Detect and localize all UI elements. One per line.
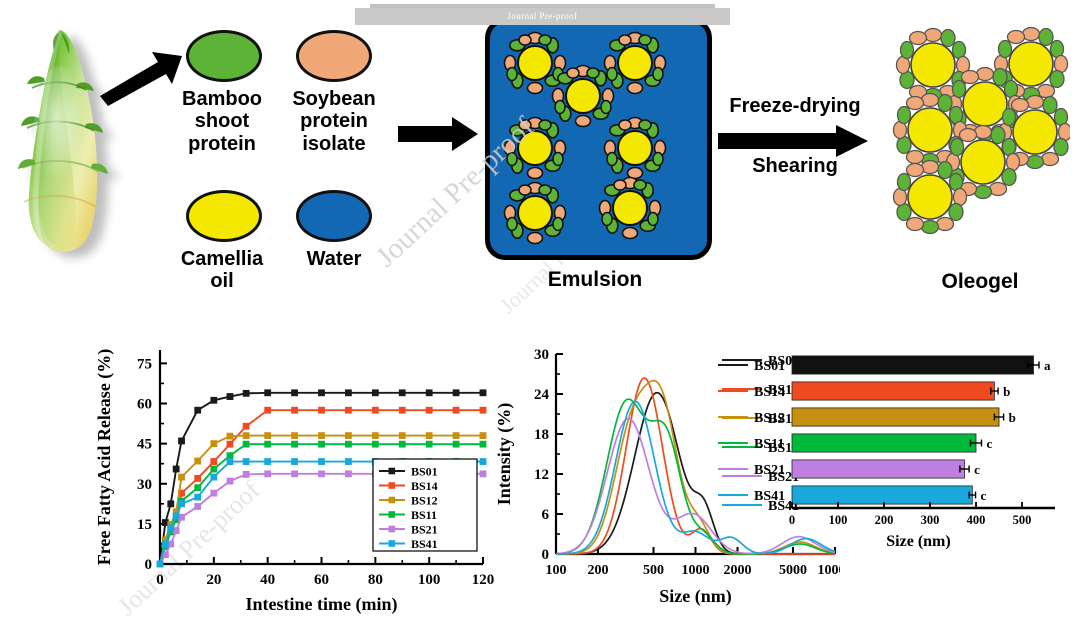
data-point — [227, 458, 233, 464]
arrow-ingredients-to-emulsion — [398, 116, 478, 152]
data-point — [372, 390, 378, 396]
x-tick-label: 20 — [206, 572, 221, 588]
x-tick-label: 10000 — [818, 563, 841, 578]
significance-letter: c — [981, 488, 987, 503]
data-point — [480, 458, 486, 464]
legend-marker — [389, 511, 396, 518]
data-point — [173, 513, 179, 519]
data-point — [195, 458, 201, 464]
x-tick-label: 2000 — [723, 563, 751, 578]
graphical-abstract: Journal Pre-proof Journal Pre-proof Jour… — [0, 0, 1080, 626]
x-tick-label: 300 — [921, 513, 940, 527]
data-point — [480, 471, 486, 477]
data-point — [178, 501, 184, 507]
data-point — [345, 407, 351, 413]
data-point — [265, 433, 271, 439]
data-point — [399, 390, 405, 396]
legend-label: BS12 — [754, 411, 785, 426]
data-point — [291, 471, 297, 477]
data-point — [243, 433, 249, 439]
x-tick-label: 500 — [1013, 513, 1032, 527]
x-axis-label: Intestine time (min) — [246, 594, 398, 615]
data-point — [291, 407, 297, 413]
data-point — [372, 433, 378, 439]
data-point — [426, 390, 432, 396]
data-point — [211, 441, 217, 447]
x-axis-label: Size (nm) — [659, 586, 731, 607]
data-point — [345, 433, 351, 439]
legend-label: BS21 — [754, 463, 785, 478]
data-point — [211, 397, 217, 403]
data-point — [480, 407, 486, 413]
legend-marker — [389, 482, 396, 489]
data-point — [265, 471, 271, 477]
significance-letter: c — [987, 436, 993, 451]
oleogel-label: Oleogel — [895, 270, 1065, 294]
camellia-label-line2: oil — [166, 270, 278, 292]
data-point — [157, 561, 163, 567]
data-point — [211, 490, 217, 496]
data-point — [480, 433, 486, 439]
legend-label: BS11 — [411, 508, 437, 522]
data-point — [318, 471, 324, 477]
data-point — [265, 458, 271, 464]
data-point — [195, 475, 201, 481]
x-tick-label: 80 — [368, 572, 383, 588]
legend-label: BS14 — [754, 385, 785, 400]
data-point — [345, 471, 351, 477]
data-point — [480, 390, 486, 396]
significance-letter: a — [1044, 358, 1051, 373]
y-tick-label: 60 — [137, 397, 152, 413]
x-tick-label: 40 — [260, 572, 275, 588]
legend-label: BS41 — [754, 489, 785, 504]
x-tick-label: 0 — [789, 513, 795, 527]
data-point — [243, 423, 249, 429]
data-point — [453, 433, 459, 439]
data-point — [227, 441, 233, 447]
y-tick-label: 0 — [542, 547, 550, 563]
legend-marker — [389, 468, 396, 475]
data-point — [291, 458, 297, 464]
data-point — [399, 433, 405, 439]
y-tick-label: 30 — [534, 347, 549, 363]
data-point — [211, 466, 217, 472]
arrow-emulsion-to-oleogel — [718, 125, 868, 157]
y-tick-label: 6 — [542, 507, 550, 523]
x-tick-label: 5000 — [779, 563, 807, 578]
data-point — [243, 441, 249, 447]
freeze-drying-label: Freeze-drying — [705, 95, 885, 118]
data-point — [162, 541, 168, 547]
bar — [792, 460, 965, 478]
legend-marker — [389, 497, 396, 504]
bar — [792, 356, 1034, 374]
data-point — [243, 390, 249, 396]
data-point — [453, 390, 459, 396]
oleogel-cluster — [885, 22, 1070, 252]
data-point — [265, 407, 271, 413]
x-tick-label: 500 — [643, 563, 664, 578]
y-tick-label: 12 — [534, 467, 549, 483]
data-point — [453, 441, 459, 447]
legend-marker — [389, 540, 396, 547]
data-point — [168, 525, 174, 531]
legend-marker — [389, 526, 396, 533]
data-point — [480, 441, 486, 447]
bar — [792, 408, 999, 426]
bamboo-shoot-protein-ellipse — [186, 30, 262, 82]
bar-BS11: cBS11 — [718, 434, 993, 452]
data-point — [227, 433, 233, 439]
mean-particle-size-inset-chart: aBS01bBS14bBS12cBS11cBS21cBS410100200300… — [700, 340, 1080, 555]
legend-label: BS21 — [411, 523, 438, 537]
data-point — [265, 441, 271, 447]
data-point — [318, 441, 324, 447]
soybean-protein-isolate-ellipse — [296, 30, 372, 82]
data-point — [372, 407, 378, 413]
data-point — [243, 471, 249, 477]
x-tick-label: 400 — [967, 513, 986, 527]
free-fatty-acid-release-chart: 01530456075020406080100120Intestine time… — [88, 322, 498, 622]
x-tick-label: 100 — [418, 572, 441, 588]
data-point — [399, 441, 405, 447]
data-point — [426, 407, 432, 413]
data-point — [453, 407, 459, 413]
y-tick-label: 15 — [137, 517, 152, 533]
camellia-oil-ellipse — [186, 190, 262, 242]
data-point — [178, 438, 184, 444]
camellia-oil-label: Camellia oil — [166, 248, 278, 293]
bar-BS12: bBS12 — [718, 408, 1016, 426]
data-point — [211, 458, 217, 464]
data-point — [291, 390, 297, 396]
data-point — [426, 433, 432, 439]
y-tick-label: 45 — [137, 437, 152, 453]
x-axis-label: Size (nm) — [886, 533, 950, 550]
legend-label: BS41 — [411, 537, 438, 551]
data-point — [345, 441, 351, 447]
data-point — [372, 441, 378, 447]
bamboo-label-line2: shoot — [166, 110, 278, 132]
data-point — [168, 501, 174, 507]
y-tick-label: 18 — [534, 427, 549, 443]
data-point — [345, 458, 351, 464]
x-tick-label: 1000 — [682, 563, 710, 578]
data-point — [345, 390, 351, 396]
data-point — [291, 441, 297, 447]
data-point — [178, 474, 184, 480]
significance-letter: c — [974, 462, 980, 477]
soy-label-line2: protein — [278, 110, 390, 132]
significance-letter: b — [1003, 384, 1010, 399]
legend-label: BS01 — [411, 465, 438, 479]
legend-label: BS14 — [411, 479, 438, 493]
data-point — [211, 474, 217, 480]
journal-preproof-banner: Journal Pre-proof — [355, 8, 730, 25]
soy-label-line3: isolate — [278, 133, 390, 155]
bar-BS41: cBS41 — [718, 486, 987, 504]
journal-preproof-banner-text: Journal Pre-proof — [355, 8, 730, 25]
data-point — [227, 453, 233, 459]
legend-label: BS11 — [754, 437, 784, 452]
bar — [792, 434, 976, 452]
x-tick-label: 200 — [875, 513, 894, 527]
x-tick-label: 200 — [587, 563, 608, 578]
bamboo-label-line1: Bamboo — [166, 88, 278, 110]
soybean-protein-isolate-label: Soybean protein isolate — [278, 88, 390, 155]
data-point — [291, 433, 297, 439]
data-point — [195, 503, 201, 509]
data-point — [318, 433, 324, 439]
data-point — [318, 407, 324, 413]
data-point — [318, 458, 324, 464]
data-point — [173, 466, 179, 472]
bamboo-shoot-protein-label: Bamboo shoot protein — [166, 88, 278, 155]
shearing-label: Shearing — [705, 155, 885, 178]
x-tick-label: 100 — [829, 513, 848, 527]
data-point — [227, 393, 233, 399]
emulsion-label: Emulsion — [505, 268, 685, 292]
bar-BS14: bBS14 — [718, 382, 1010, 400]
data-point — [227, 478, 233, 484]
water-ellipse — [296, 190, 372, 242]
x-tick-label: 60 — [314, 572, 329, 588]
bar-BS21: cBS21 — [718, 460, 980, 478]
bar — [792, 486, 972, 504]
y-tick-label: 24 — [534, 387, 550, 403]
data-point — [195, 407, 201, 413]
soy-label-line1: Soybean — [278, 88, 390, 110]
camellia-label-line1: Camellia — [166, 248, 278, 270]
y-tick-label: 30 — [137, 477, 152, 493]
data-point — [426, 441, 432, 447]
data-point — [399, 407, 405, 413]
data-point — [243, 458, 249, 464]
y-axis-label: Intensity (%) — [494, 403, 515, 506]
data-point — [195, 494, 201, 500]
bar — [792, 382, 994, 400]
y-axis-label: Free Fatty Acid Release (%) — [94, 349, 115, 566]
data-point — [318, 390, 324, 396]
x-tick-label: 100 — [546, 563, 567, 578]
bamboo-label-line3: protein — [166, 133, 278, 155]
significance-letter: b — [1009, 410, 1016, 425]
x-tick-label: 0 — [156, 572, 164, 588]
legend: BS01BS14BS12BS11BS21BS41 — [373, 459, 477, 551]
data-point — [195, 485, 201, 491]
y-tick-label: 75 — [137, 356, 152, 372]
legend-label: BS12 — [411, 494, 438, 508]
legend-label: BS01 — [754, 359, 785, 374]
bar-BS01: aBS01 — [718, 356, 1051, 374]
y-tick-label: 0 — [145, 557, 153, 573]
data-point — [265, 390, 271, 396]
